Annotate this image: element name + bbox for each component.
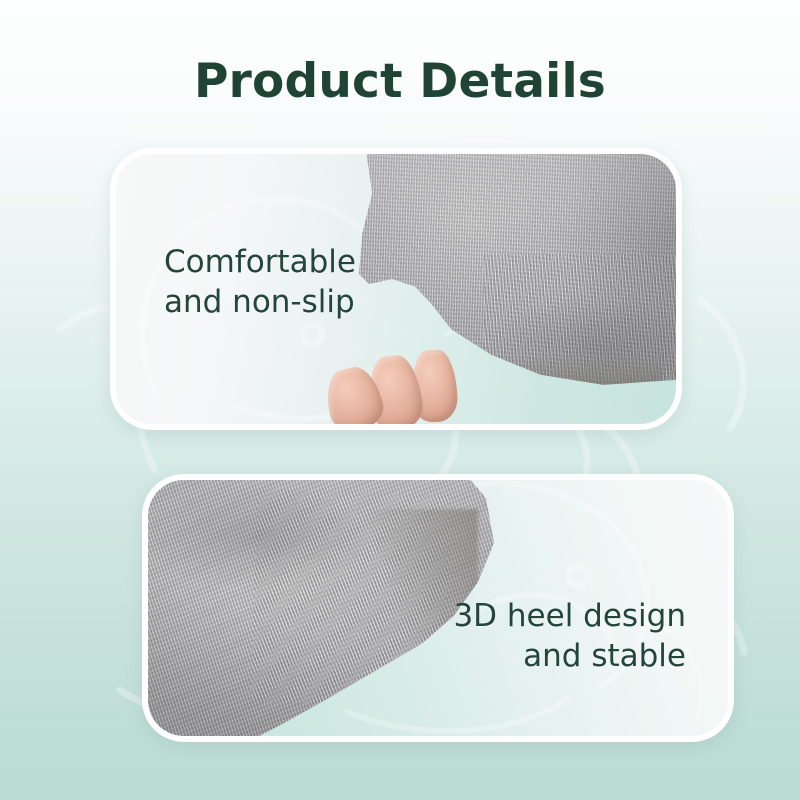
card-1-content: Comfortable and non-slip <box>116 154 676 424</box>
product-details-page: Product Details <box>0 0 800 800</box>
product-detail-card-1[interactable]: Comfortable and non-slip <box>110 148 682 430</box>
page-title: Product Details <box>0 54 800 109</box>
product-detail-card-2[interactable]: 3D heel design and stable <box>142 474 734 742</box>
card-1-caption: Comfortable and non-slip <box>164 242 356 323</box>
card-2-content: 3D heel design and stable <box>148 480 728 736</box>
card-2-caption: 3D heel design and stable <box>453 596 686 677</box>
hand-fingers-image <box>321 350 471 424</box>
